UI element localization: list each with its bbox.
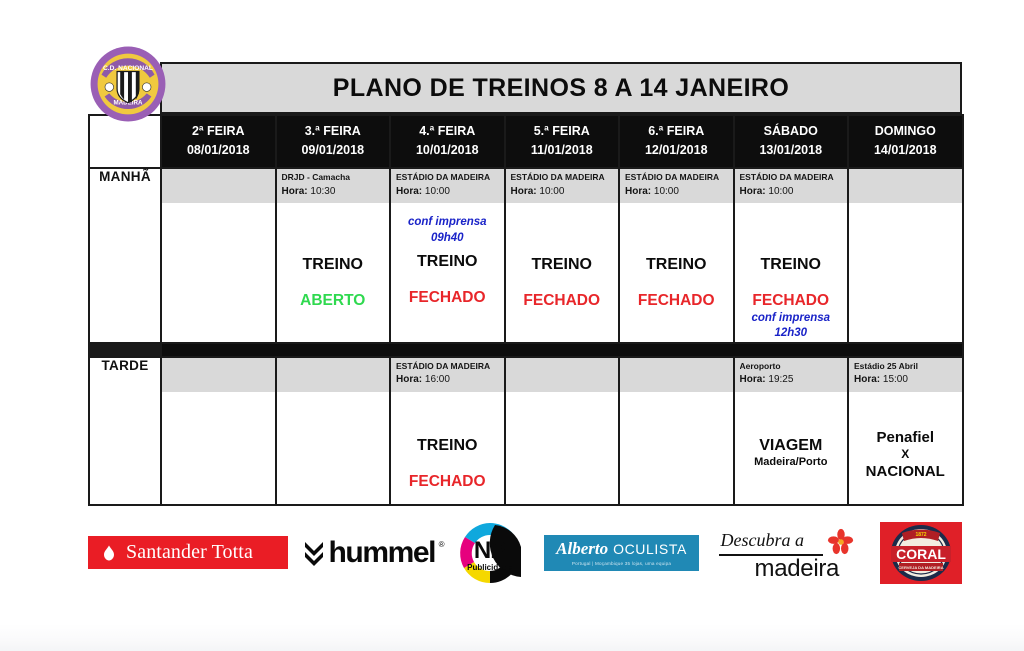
info-band: Estádio 25 Abril Hora: 15:00	[849, 358, 962, 392]
info-band: Aeroporto Hora: 19:25	[735, 358, 848, 392]
sponsor-label: Descubra a	[721, 530, 805, 551]
hora: Hora: 10:00	[396, 184, 500, 199]
day-name: 4.ª FEIRA	[393, 122, 502, 141]
coral-label-icon: 1872 CORAL CERVEJA DA MADEIRA	[880, 522, 962, 584]
session-type: TREINO	[506, 255, 619, 274]
match-away-team: NACIONAL	[849, 462, 962, 481]
info-band	[849, 169, 962, 203]
cell-morning-sat: ESTÁDIO DA MADEIRA Hora: 10:00 TREINO FE…	[734, 168, 849, 343]
santander-flame-icon	[99, 543, 119, 563]
day-date: 09/01/2018	[279, 141, 388, 160]
sponsor-label-2: OCULISTA	[613, 541, 687, 557]
sponsor-hummel: hummel®	[303, 536, 435, 570]
cell-morning-tue: DRJD - Camacha Hora: 10:30 TREINO ABERTO	[276, 168, 391, 343]
cell-afternoon-fri	[619, 357, 734, 505]
slot-body: Penafiel X NACIONAL	[849, 392, 962, 482]
travel-route: Madeira/Porto	[735, 455, 848, 469]
hora: Hora: 19:25	[740, 372, 844, 387]
info-band: DRJD - Camacha Hora: 10:30	[277, 169, 390, 203]
day-header-3: 5.ª FEIRA 11/01/2018	[505, 115, 620, 168]
info-band: ESTÁDIO DA MADEIRA Hora: 10:00	[506, 169, 619, 203]
info-band: ESTÁDIO DA MADEIRA Hora: 10:00	[620, 169, 733, 203]
day-date: 10/01/2018	[393, 141, 502, 160]
venue: ESTÁDIO DA MADEIRA	[396, 172, 500, 183]
hora: Hora: 10:00	[511, 184, 615, 199]
day-name: 6.ª FEIRA	[622, 122, 731, 141]
slot-body: TREINO ABERTO	[277, 203, 390, 311]
session-type: TREINO	[735, 255, 848, 274]
match-home-team: Penafiel	[849, 428, 962, 447]
press-conference-label: conf imprensa	[735, 311, 848, 327]
session-status: FECHADO	[620, 292, 733, 311]
cell-afternoon-thu	[505, 357, 620, 505]
day-date: 11/01/2018	[508, 141, 617, 160]
cell-morning-wed: ESTÁDIO DA MADEIRA Hora: 10:00 conf impr…	[390, 168, 505, 343]
hummel-chevrons-icon	[303, 538, 325, 568]
venue: DRJD - Camacha	[282, 172, 386, 183]
page-title: PLANO DE TREINOS 8 A 14 JANEIRO	[333, 74, 789, 103]
slot-body: VIAGEM Madeira/Porto	[735, 392, 848, 469]
info-band	[162, 169, 275, 203]
separator-left	[89, 343, 161, 357]
info-band: ESTÁDIO DA MADEIRA Hora: 16:00	[391, 358, 504, 392]
sponsor-coral: 1872 CORAL CERVEJA DA MADEIRA	[880, 522, 962, 584]
info-band: ESTÁDIO DA MADEIRA Hora: 10:00	[391, 169, 504, 203]
session-status: FECHADO	[735, 292, 848, 311]
cell-afternoon-sun: Estádio 25 Abril Hora: 15:00 Penafiel X …	[848, 357, 963, 505]
session-type: TREINO	[391, 436, 504, 455]
day-name: 5.ª FEIRA	[508, 122, 617, 141]
sponsor-label: NP	[451, 539, 529, 563]
hora: Hora: 15:00	[854, 372, 958, 387]
day-date: 13/01/2018	[737, 141, 846, 160]
info-band	[620, 358, 733, 392]
cell-afternoon-tue	[276, 357, 391, 505]
day-header-0: 2ª FEIRA 08/01/2018	[161, 115, 276, 168]
cell-afternoon-sat: Aeroporto Hora: 19:25 VIAGEM Madeira/Por…	[734, 357, 849, 505]
venue: Estádio 25 Abril	[854, 361, 958, 372]
hora: Hora: 10:00	[625, 184, 729, 199]
day-header-2: 4.ª FEIRA 10/01/2018	[390, 115, 505, 168]
day-header-5: SÁBADO 13/01/2018	[734, 115, 849, 168]
slot-body: TREINO FECHADO	[506, 203, 619, 311]
day-name: DOMINGO	[851, 122, 960, 141]
press-conference-time: 12h30	[735, 326, 848, 342]
row-label-morning: MANHÃ	[89, 168, 161, 343]
sponsor-sublabel: Portugal | Moçambique 35 lojas, uma equi…	[572, 561, 671, 566]
cell-morning-thu: ESTÁDIO DA MADEIRA Hora: 10:00 TREINO FE…	[505, 168, 620, 343]
info-band	[506, 358, 619, 392]
day-header-6: DOMINGO 14/01/2018	[848, 115, 963, 168]
venue: ESTÁDIO DA MADEIRA	[511, 172, 615, 183]
hora: Hora: 16:00	[396, 372, 500, 387]
day-date: 08/01/2018	[164, 141, 273, 160]
session-status: FECHADO	[391, 289, 504, 308]
session-type: TREINO	[620, 255, 733, 274]
sponsor-strip: Santander Totta hummel®	[88, 515, 962, 590]
sponsor-label: Santander Totta	[126, 541, 253, 564]
cell-morning-fri: ESTÁDIO DA MADEIRA Hora: 10:00 TREINO FE…	[619, 168, 734, 343]
cell-morning-sun	[848, 168, 963, 343]
afternoon-row: TARDE ESTÁDIO DA MADEIRA Hora: 16:00	[89, 357, 963, 505]
table-header-row: 2ª FEIRA 08/01/2018 3.ª FEIRA 09/01/2018…	[89, 115, 963, 168]
row-label-afternoon: TARDE	[89, 357, 161, 505]
session-status: FECHADO	[391, 473, 504, 492]
training-schedule-table: 2ª FEIRA 08/01/2018 3.ª FEIRA 09/01/2018…	[88, 114, 964, 506]
day-date: 12/01/2018	[622, 141, 731, 160]
session-type: TREINO	[391, 252, 504, 271]
slot-body: TREINO FECHADO	[391, 392, 504, 492]
info-band: ESTÁDIO DA MADEIRA Hora: 10:00	[735, 169, 848, 203]
cell-afternoon-wed: ESTÁDIO DA MADEIRA Hora: 16:00 TREINO FE…	[390, 357, 505, 505]
session-status: FECHADO	[506, 292, 619, 311]
day-header-1: 3.ª FEIRA 09/01/2018	[276, 115, 391, 168]
club-crest-icon: C.D. NACIONAL MADEIRA	[89, 45, 167, 123]
cell-afternoon-mon	[161, 357, 276, 505]
info-band	[277, 358, 390, 392]
venue: Aeroporto	[740, 361, 844, 372]
sponsor-label-2: madeira	[755, 555, 840, 583]
sponsor-descubra-a-madeira: Descubra a madeira	[715, 522, 865, 584]
sponsor-sublabel: Publicidade	[451, 563, 529, 573]
training-plan-page: C.D. NACIONAL MADEIRA PLANO DE TREINOS 8…	[0, 0, 1024, 651]
sponsor-alberto-oculista: Alberto OCULISTA Portugal | Moçambique 3…	[544, 535, 699, 571]
row-separator	[89, 343, 963, 357]
slot-body: conf imprensa 09h40 TREINO FECHADO	[391, 203, 504, 308]
svg-text:CERVEJA DA MADEIRA: CERVEJA DA MADEIRA	[898, 565, 943, 570]
morning-row: MANHÃ DRJD - Camacha Hora: 10:30 TREINO …	[89, 168, 963, 343]
hora: Hora: 10:30	[282, 184, 386, 199]
venue: ESTÁDIO DA MADEIRA	[625, 172, 729, 183]
day-name: SÁBADO	[737, 122, 846, 141]
press-conference-label: conf imprensa	[391, 215, 504, 231]
sponsor-santander-totta: Santander Totta	[88, 536, 288, 569]
slot-body: TREINO FECHADO conf imprensa 12h30	[735, 203, 848, 342]
plan-title-bar: PLANO DE TREINOS 8 A 14 JANEIRO	[160, 62, 962, 114]
match-versus: X	[849, 447, 962, 462]
day-date: 14/01/2018	[851, 141, 960, 160]
session-status: ABERTO	[277, 292, 390, 311]
page-bottom-fade	[0, 624, 1024, 651]
sponsor-label: Alberto	[556, 539, 608, 559]
day-header-4: 6.ª FEIRA 12/01/2018	[619, 115, 734, 168]
day-name: 2ª FEIRA	[164, 122, 273, 141]
slot-body: TREINO FECHADO	[620, 203, 733, 311]
day-name: 3.ª FEIRA	[279, 122, 388, 141]
svg-text:CORAL: CORAL	[896, 546, 946, 562]
travel-type: VIAGEM	[735, 436, 848, 455]
cell-morning-mon	[161, 168, 276, 343]
info-band	[162, 358, 275, 392]
hora: Hora: 10:00	[740, 184, 844, 199]
svg-text:1872: 1872	[915, 532, 926, 538]
sponsor-np-publicidade: NP Publicidade	[451, 517, 529, 589]
press-conference-time: 09h40	[391, 231, 504, 247]
separator-bar	[161, 343, 963, 357]
sponsor-label: hummel®	[328, 536, 435, 570]
madeira-flower-icon	[827, 528, 855, 556]
venue: ESTÁDIO DA MADEIRA	[396, 361, 500, 372]
venue: ESTÁDIO DA MADEIRA	[740, 172, 844, 183]
session-type: TREINO	[277, 255, 390, 274]
